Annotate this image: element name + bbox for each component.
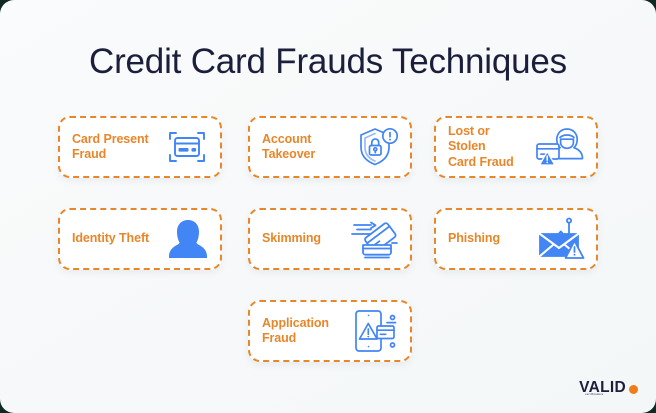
card-label: Phishing	[448, 231, 500, 246]
hooded-thief-card-warning-icon	[534, 124, 586, 170]
card-phishing[interactable]: Phishing	[434, 208, 598, 270]
brand-logo: VALID certificadora	[579, 379, 638, 397]
card-label: Application Fraud	[262, 316, 329, 347]
card-label: Identity Theft	[72, 231, 149, 246]
card-application-fraud[interactable]: Application Fraud	[248, 300, 412, 362]
card-card-present-fraud[interactable]: Card Present Fraud	[58, 116, 222, 178]
card-label: Lost or Stolen Card Fraud	[448, 124, 514, 170]
card-swipe-reader-icon	[350, 217, 400, 261]
card-identity-theft[interactable]: Identity Theft	[58, 208, 222, 270]
shield-lock-alert-icon	[354, 125, 400, 169]
card-label: Account Takeover	[262, 132, 315, 163]
credit-card-scan-icon	[164, 127, 210, 167]
card-skimming[interactable]: Skimming	[248, 208, 412, 270]
phone-form-warning-icon	[352, 308, 400, 354]
envelope-hook-warning-icon	[536, 217, 586, 261]
logo-subtext: certificadora	[585, 393, 603, 396]
card-account-takeover[interactable]: Account Takeover	[248, 116, 412, 178]
logo-wordmark: VALID certificadora	[579, 379, 626, 397]
logo-dot-icon	[629, 385, 638, 394]
card-label: Skimming	[262, 231, 321, 246]
infographic-canvas: Credit Card Frauds Techniques Card Prese…	[0, 0, 656, 413]
page-title: Credit Card Frauds Techniques	[0, 42, 656, 82]
person-silhouette-icon	[166, 218, 210, 260]
card-lost-or-stolen-card-fraud[interactable]: Lost or Stolen Card Fraud	[434, 116, 598, 178]
card-label: Card Present Fraud	[72, 132, 149, 163]
